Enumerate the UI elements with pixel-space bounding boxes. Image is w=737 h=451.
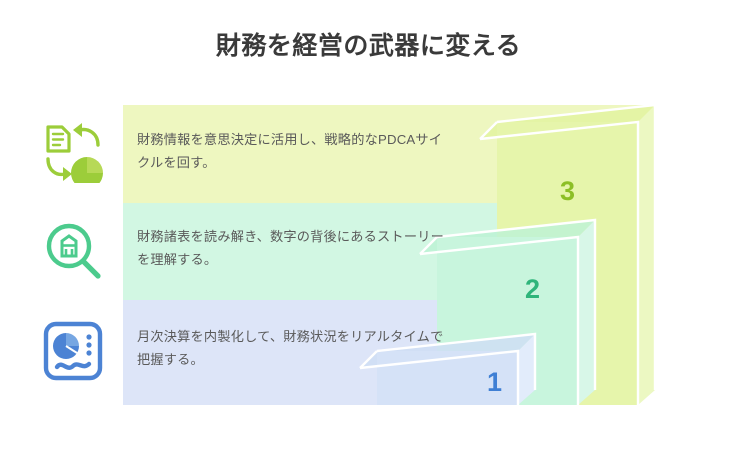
steps-list: 財務情報を意思決定に活用し、戦略的なPDCAサイクルを回す。 財務諸表を読み解き… — [0, 0, 737, 451]
document-arrows-piechart-icon — [40, 119, 106, 185]
step-number-2: 2 — [525, 274, 540, 305]
step-number-3: 3 — [560, 176, 575, 207]
step-1-description: 月次決算を内製化して、財務状況をリアルタイムで把握する。 — [137, 326, 447, 371]
magnifier-report-icon — [40, 218, 106, 284]
step-row-1: 月次決算を内製化して、財務状況をリアルタイムで把握する。 — [0, 300, 737, 405]
dashboard-piechart-icon — [40, 318, 106, 384]
step-2-description: 財務諸表を読み解き、数字の背後にあるストーリーを理解する。 — [137, 226, 447, 271]
step-row-2: 財務諸表を読み解き、数字の背後にあるストーリーを理解する。 — [0, 203, 737, 300]
step-number-1: 1 — [487, 367, 502, 398]
step-row-3: 財務情報を意思決定に活用し、戦略的なPDCAサイクルを回す。 — [0, 105, 737, 203]
step-3-description: 財務情報を意思決定に活用し、戦略的なPDCAサイクルを回す。 — [137, 129, 447, 174]
